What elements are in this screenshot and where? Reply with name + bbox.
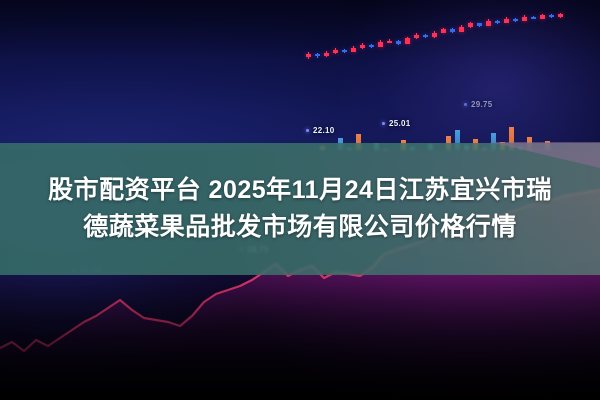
candlestick (540, 14, 545, 19)
title-overlay-band (0, 143, 600, 275)
candle-body (450, 29, 455, 31)
band-diagonal-accent (490, 142, 600, 168)
candle-body (423, 35, 428, 37)
candlestick (324, 51, 329, 57)
candle-body (360, 45, 365, 48)
candle-body (396, 41, 401, 44)
candle-body (432, 33, 437, 38)
candle-body (387, 41, 392, 43)
candle-body (315, 54, 320, 56)
candlestick (441, 28, 446, 34)
candle-body (342, 50, 347, 52)
candle-body (504, 19, 509, 24)
candlestick (306, 52, 311, 59)
price-label: 22.10 (313, 126, 335, 135)
candle-body (558, 14, 563, 17)
candle-body (324, 53, 329, 57)
candle-body (378, 42, 383, 47)
candlestick (387, 39, 392, 43)
candle-body (540, 15, 545, 18)
price-label: 29.75 (471, 100, 493, 109)
candlestick (378, 40, 383, 47)
candlestick (414, 33, 419, 39)
candlestick (495, 20, 500, 24)
candle-body (441, 29, 446, 32)
candle-body (459, 27, 464, 32)
area-bottom-fade (0, 270, 600, 400)
price-label: 25.01 (389, 119, 411, 128)
candlestick (315, 53, 320, 58)
candlestick-chart-panel (0, 0, 600, 160)
candlestick (369, 44, 374, 48)
candlestick (396, 40, 401, 45)
candlestick (432, 31, 437, 38)
candle-body (468, 23, 473, 26)
candlestick (477, 23, 482, 27)
candlestick (486, 19, 491, 26)
candlestick (504, 17, 509, 24)
candlestick (333, 48, 338, 53)
candle-body (405, 38, 410, 43)
candle-body (369, 45, 374, 47)
candlestick (468, 22, 473, 28)
candle-body (522, 17, 527, 21)
candle-body (495, 21, 500, 23)
candlestick (513, 18, 518, 22)
candlestick (522, 15, 527, 21)
candlestick (360, 43, 365, 49)
candle-body (333, 50, 338, 53)
candle-body (513, 19, 518, 21)
candlestick (405, 37, 410, 45)
candle-body (531, 17, 536, 19)
candlestick (342, 49, 347, 53)
candle-body (549, 15, 554, 17)
candle-body (306, 54, 311, 57)
candlestick (531, 16, 536, 20)
candle-body (414, 35, 419, 38)
banner-image: 22.1025.0129.7510.0718.7511.28 股市配资平台 20… (0, 0, 600, 400)
candlestick (450, 28, 455, 32)
candlestick (351, 46, 356, 52)
candle-body (486, 21, 491, 26)
candlestick (423, 34, 428, 38)
candle-body (477, 23, 482, 25)
candlestick (558, 13, 563, 18)
candle-body (351, 48, 356, 52)
candlestick (549, 14, 554, 18)
candlestick (459, 25, 464, 32)
